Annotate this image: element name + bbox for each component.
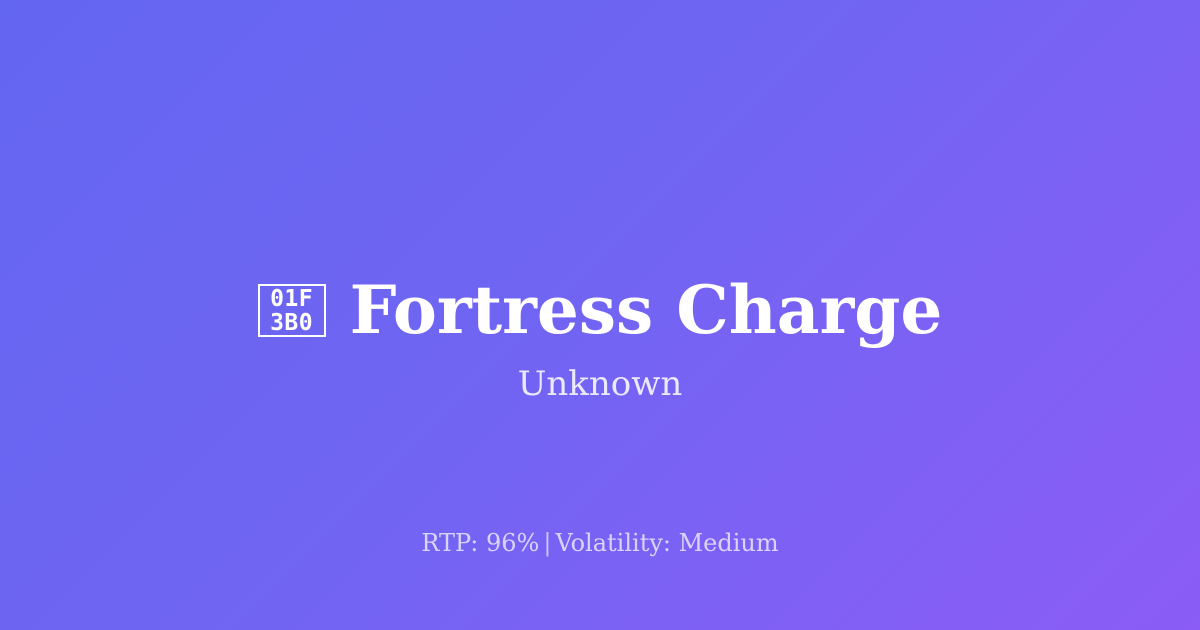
- game-stats-line: RTP: 96%|Volatility: Medium: [0, 528, 1200, 558]
- game-og-card: 01F 3B0 Fortress Charge Unknown RTP: 96%…: [0, 0, 1200, 630]
- stats-separator: |: [539, 529, 555, 557]
- slot-machine-emoji-icon: 01F 3B0: [258, 284, 326, 337]
- tofu-codepoint-lower: 3B0: [270, 311, 313, 335]
- game-provider-subtitle: Unknown: [0, 364, 1200, 405]
- volatility-stat: Volatility: Medium: [555, 529, 778, 557]
- tofu-codepoint-upper: 01F: [270, 287, 313, 311]
- game-title: Fortress Charge: [350, 276, 943, 345]
- rtp-stat: RTP: 96%: [421, 529, 539, 557]
